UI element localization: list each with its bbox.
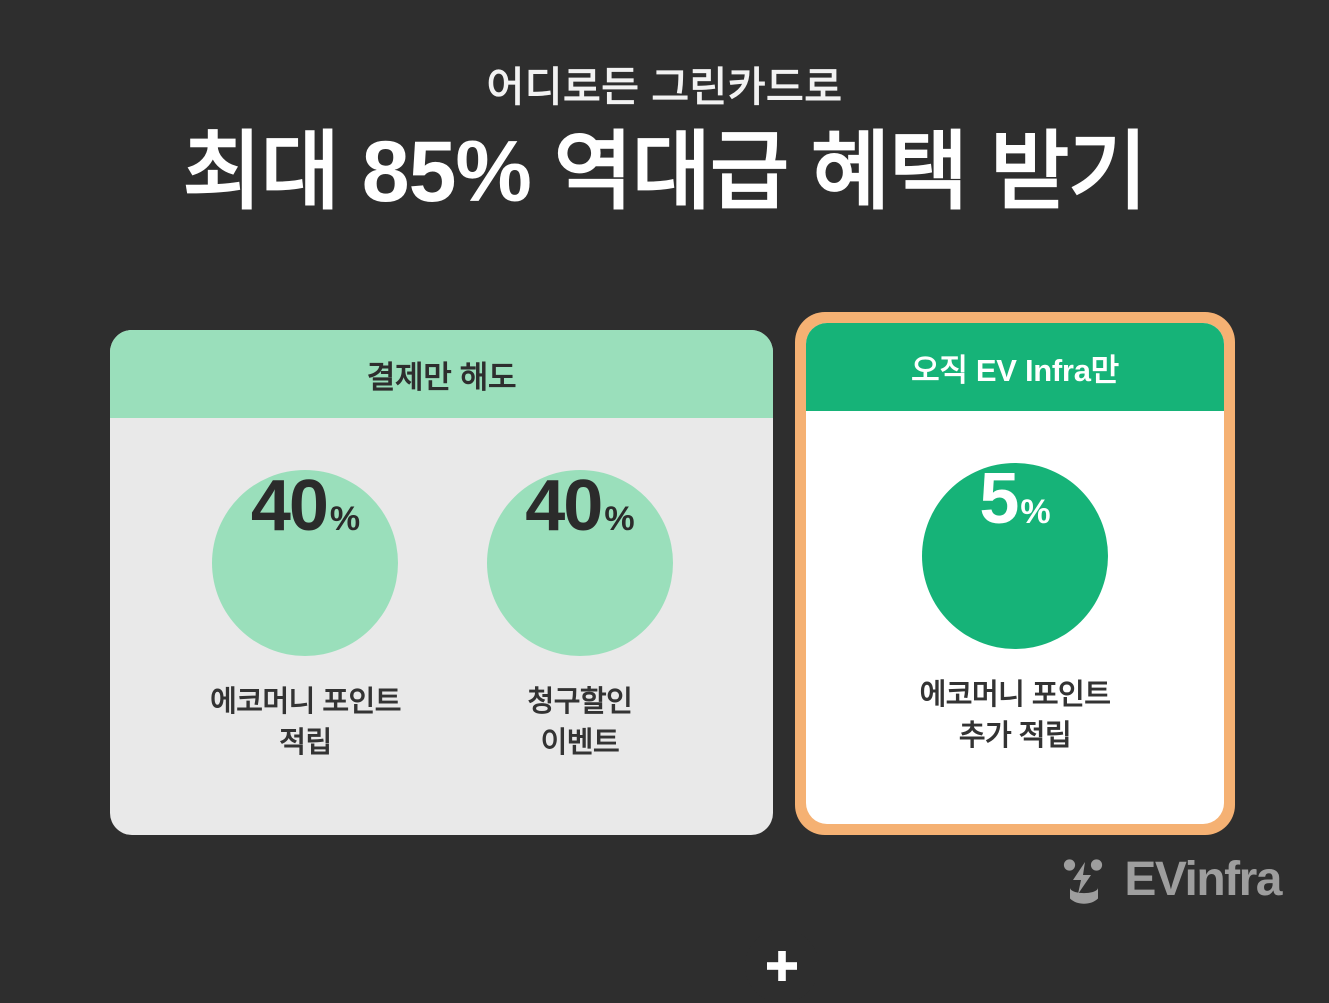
benefit-bubble: 5 % [922,463,1108,649]
benefit-label-line1: 청구할인 [528,682,633,723]
benefit-label-line2: 추가 적립 [920,716,1111,757]
benefit-label: 에코머니 포인트 적립 [210,682,401,764]
benefit-eco-point-extra-accrual: 5 % 에코머니 포인트 추가 적립 [920,463,1111,757]
benefit-value: 5 [979,463,1017,535]
benefit-unit: % [330,502,360,536]
benefit-label: 에코머니 포인트 추가 적립 [920,675,1111,757]
benefit-billing-discount-event: 40 % 청구할인 이벤트 [487,470,673,764]
card-evinfra-header-label: 오직 EV Infra만 [911,345,1119,390]
benefit-label: 청구할인 이벤트 [528,682,633,764]
card-standard-body: 40 % 에코머니 포인트 적립 40 % 청구할인 이벤트 [110,418,773,835]
benefit-value: 40 [251,470,327,542]
card-standard-benefits: 결제만 해도 40 % 에코머니 포인트 적립 40 % 청구할인 [110,330,773,835]
benefit-value: 40 [525,470,601,542]
headline-text: 최대 85% 역대급 혜택 받기 [0,127,1329,217]
benefit-bubble: 40 % [487,470,673,656]
card-evinfra-header: 오직 EV Infra만 [806,323,1224,411]
card-standard-header: 결제만 해도 [110,330,773,418]
benefit-cards-section: 결제만 해도 40 % 에코머니 포인트 적립 40 % 청구할인 [0,312,1329,832]
benefit-bubble: 40 % [212,470,398,656]
benefit-label-line1: 에코머니 포인트 [210,682,401,723]
benefit-label-line2: 적립 [210,723,401,764]
card-evinfra-exclusive: 오직 EV Infra만 5 % 에코머니 포인트 추가 적립 [795,312,1235,835]
header: 어디로든 그린카드로 최대 85% 역대급 혜택 받기 [0,0,1329,217]
card-evinfra-body: 5 % 에코머니 포인트 추가 적립 [806,411,1224,824]
evinfra-smiley-bolt-icon [1058,854,1110,906]
benefit-eco-point-accrual: 40 % 에코머니 포인트 적립 [210,470,401,764]
brand-wordmark: EVinfra [1124,856,1281,904]
benefit-unit: % [604,502,634,536]
benefit-unit: % [1020,495,1050,529]
card-standard-header-label: 결제만 해도 [367,352,516,397]
card-evinfra-inner: 오직 EV Infra만 5 % 에코머니 포인트 추가 적립 [806,323,1224,824]
plus-icon [762,946,802,986]
benefit-label-line1: 에코머니 포인트 [920,675,1111,716]
plus-connector-badge [745,929,819,1003]
eyebrow-text: 어디로든 그린카드로 [0,64,1329,111]
benefit-label-line2: 이벤트 [528,723,633,764]
brand-logo: EVinfra [1058,854,1281,906]
